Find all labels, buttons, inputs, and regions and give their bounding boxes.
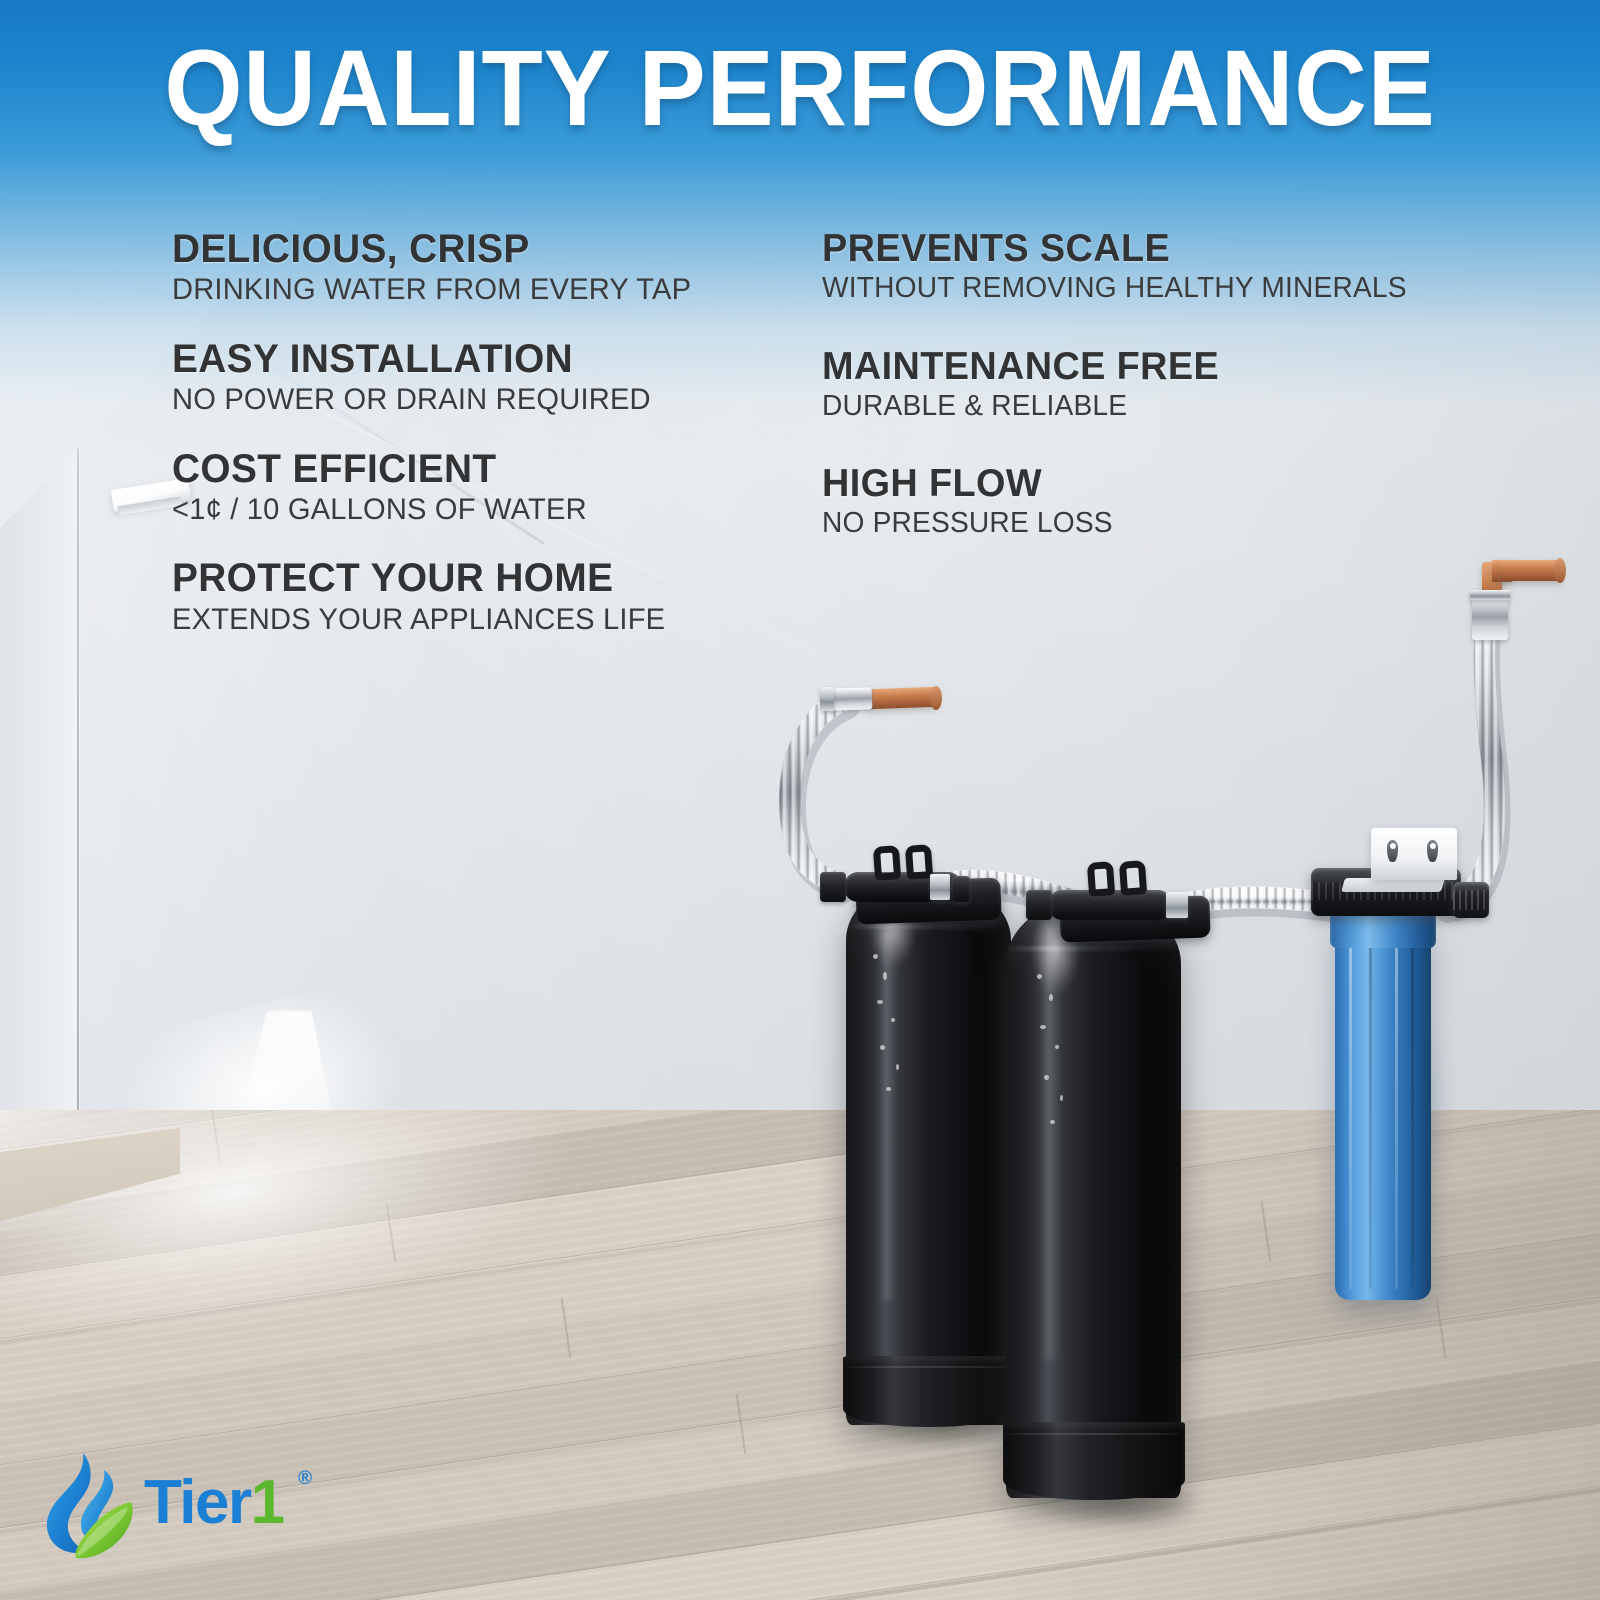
feature-maintenance-free: MAINTENANCE FREE DURABLE & RELIABLE: [822, 346, 1562, 424]
blue-filter-housing: [1335, 920, 1431, 1300]
tank-left-body: [846, 880, 1011, 1425]
tank-left-bypass-handle-a[interactable]: [873, 845, 901, 881]
filter-sump: [1335, 920, 1431, 1300]
black-filter-tank-left: [846, 880, 1011, 1425]
tank-right-inlet-nut: [1026, 890, 1052, 920]
filter-outlet-knob[interactable]: [1453, 882, 1489, 918]
brand-wordmark-prefix: Tier: [144, 1468, 251, 1537]
feature-title: EASY INSTALLATION: [172, 338, 773, 380]
tank-left-bypass-handle-b[interactable]: [905, 844, 933, 880]
feature-title: COST EFFICIENT: [172, 448, 773, 490]
promo-image-canvas: QUALITY PERFORMANCE DELICIOUS, CRISP DRI…: [0, 0, 1600, 1600]
tank-left-outlet-collar: [952, 876, 970, 902]
feature-title: PREVENTS SCALE: [822, 228, 1540, 269]
filter-sump-flute-2: [1369, 943, 1372, 1289]
tank-left-specks: [859, 913, 938, 1142]
feature-subtitle: <1¢ / 10 GALLONS OF WATER: [172, 492, 773, 527]
tank-left-outlet-nut: [930, 874, 950, 900]
tank-right-outlet-nut: [1166, 892, 1188, 918]
tank-right-body: [1006, 898, 1181, 1498]
feature-title: MAINTENANCE FREE: [822, 346, 1540, 387]
feature-subtitle: DURABLE & RELIABLE: [822, 389, 1540, 423]
filter-bracket-foot: [1341, 878, 1445, 892]
feature-subtitle: DRINKING WATER FROM EVERY TAP: [172, 272, 773, 307]
tank-right-specks: [1020, 934, 1104, 1186]
tank-left-base-seam: [846, 1366, 1011, 1368]
feature-delicious-crisp: DELICIOUS, CRISP DRINKING WATER FROM EVE…: [172, 228, 792, 308]
registered-trademark-icon: ®: [298, 1468, 312, 1490]
tank-right-bypass-handle-a[interactable]: [1087, 861, 1115, 897]
brand-logo[interactable]: Tier1 ®: [36, 1448, 300, 1564]
copper-inlet-pipe-end: [930, 686, 942, 710]
tank-right-base: [1003, 1422, 1185, 1500]
hose-left: [790, 700, 848, 891]
feature-column-right: PREVENTS SCALE WITHOUT REMOVING HEALTHY …: [822, 228, 1562, 581]
feature-protect-your-home: PROTECT YOUR HOME EXTENDS YOUR APPLIANCE…: [172, 557, 792, 637]
tank-left-base: [843, 1356, 1015, 1427]
tank-left-inlet-nut: [820, 872, 846, 902]
page-title: QUALITY PERFORMANCE: [56, 34, 1544, 142]
filter-sump-flute-1: [1349, 943, 1352, 1289]
feature-subtitle: WITHOUT REMOVING HEALTHY MINERALS: [822, 271, 1540, 305]
feature-column-left: DELICIOUS, CRISP DRINKING WATER FROM EVE…: [172, 228, 792, 667]
feature-prevents-scale: PREVENTS SCALE WITHOUT REMOVING HEALTHY …: [822, 228, 1562, 306]
brand-wordmark-digit: 1: [251, 1468, 284, 1537]
feature-subtitle: NO POWER OR DRAIN REQUIRED: [172, 382, 773, 417]
feature-subtitle: EXTENDS YOUR APPLIANCES LIFE: [172, 602, 773, 637]
copper-inlet-pipe: [868, 687, 939, 709]
bracket-keyhole-left: [1387, 840, 1398, 862]
feature-high-flow: HIGH FLOW NO PRESSURE LOSS: [822, 463, 1562, 541]
filter-mounting-bracket: [1371, 828, 1457, 880]
feature-easy-installation: EASY INSTALLATION NO POWER OR DRAIN REQU…: [172, 338, 792, 418]
feature-title: DELICIOUS, CRISP: [172, 228, 773, 270]
black-filter-tank-right: [1006, 898, 1181, 1498]
tank-right-base-seam: [1006, 1433, 1181, 1435]
filter-sump-flute-3: [1395, 943, 1398, 1289]
feature-title: HIGH FLOW: [822, 463, 1540, 504]
feature-list: DELICIOUS, CRISP DRINKING WATER FROM EVE…: [0, 228, 1600, 648]
feature-cost-efficient: COST EFFICIENT <1¢ / 10 GALLONS OF WATER: [172, 448, 792, 528]
copper-inlet-chrome-fitting: [828, 687, 873, 711]
bracket-keyhole-right: [1427, 840, 1438, 862]
copper-inlet-nut: [820, 687, 834, 711]
tank-right-bypass-handle-b[interactable]: [1119, 860, 1147, 896]
filter-sump-flute-4: [1411, 943, 1414, 1289]
feature-title: PROTECT YOUR HOME: [172, 557, 773, 599]
water-drop-leaf-logo-icon: [36, 1450, 144, 1562]
brand-wordmark: Tier1: [144, 1472, 284, 1534]
feature-subtitle: NO PRESSURE LOSS: [822, 506, 1540, 540]
